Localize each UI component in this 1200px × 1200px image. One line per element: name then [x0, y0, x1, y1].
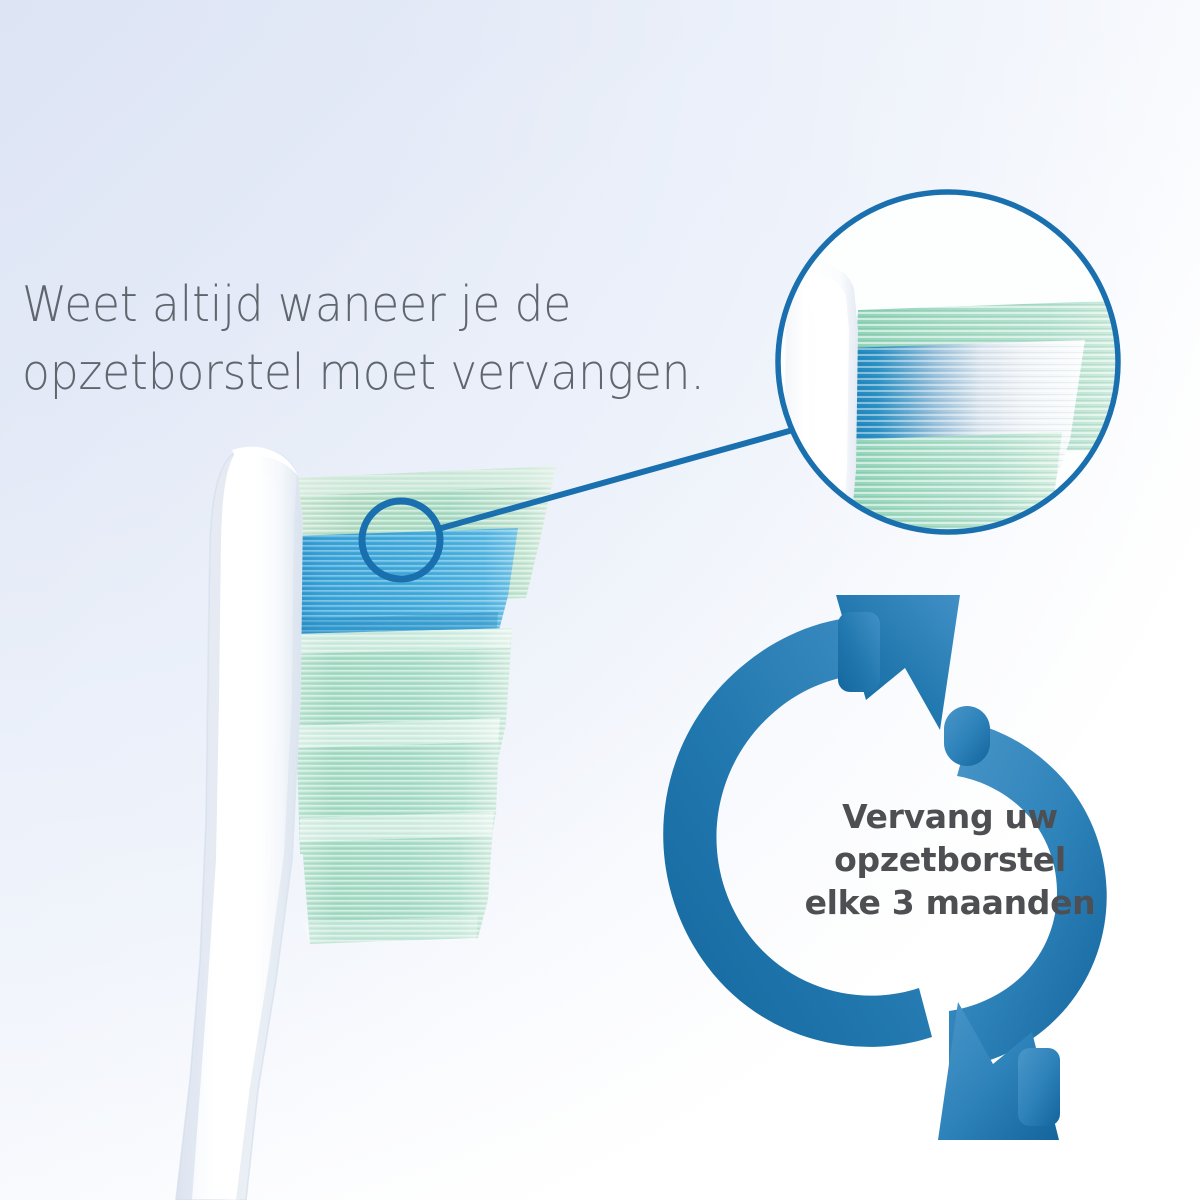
callout-connector-line — [438, 428, 800, 529]
magnifier-callout — [0, 0, 1200, 1200]
highlight-circle — [362, 501, 440, 579]
headline: Weet altijd waneer je de opzetborstel mo… — [22, 271, 747, 407]
badge-line-2: opzetborstel — [800, 838, 1100, 881]
headline-line-1: Weet altijd waneer je de — [22, 271, 747, 339]
promo-banner: Weet altijd waneer je de opzetborstel mo… — [0, 0, 1200, 1200]
badge-line-3: elke 3 maanden — [800, 881, 1100, 924]
badge-line-1: Vervang uw — [800, 795, 1100, 838]
badge-text: Vervang uw opzetborstel elke 3 maanden — [800, 795, 1100, 924]
headline-line-2: opzetborstel moet vervangen. — [22, 339, 747, 407]
magnifier-content — [770, 185, 1135, 620]
